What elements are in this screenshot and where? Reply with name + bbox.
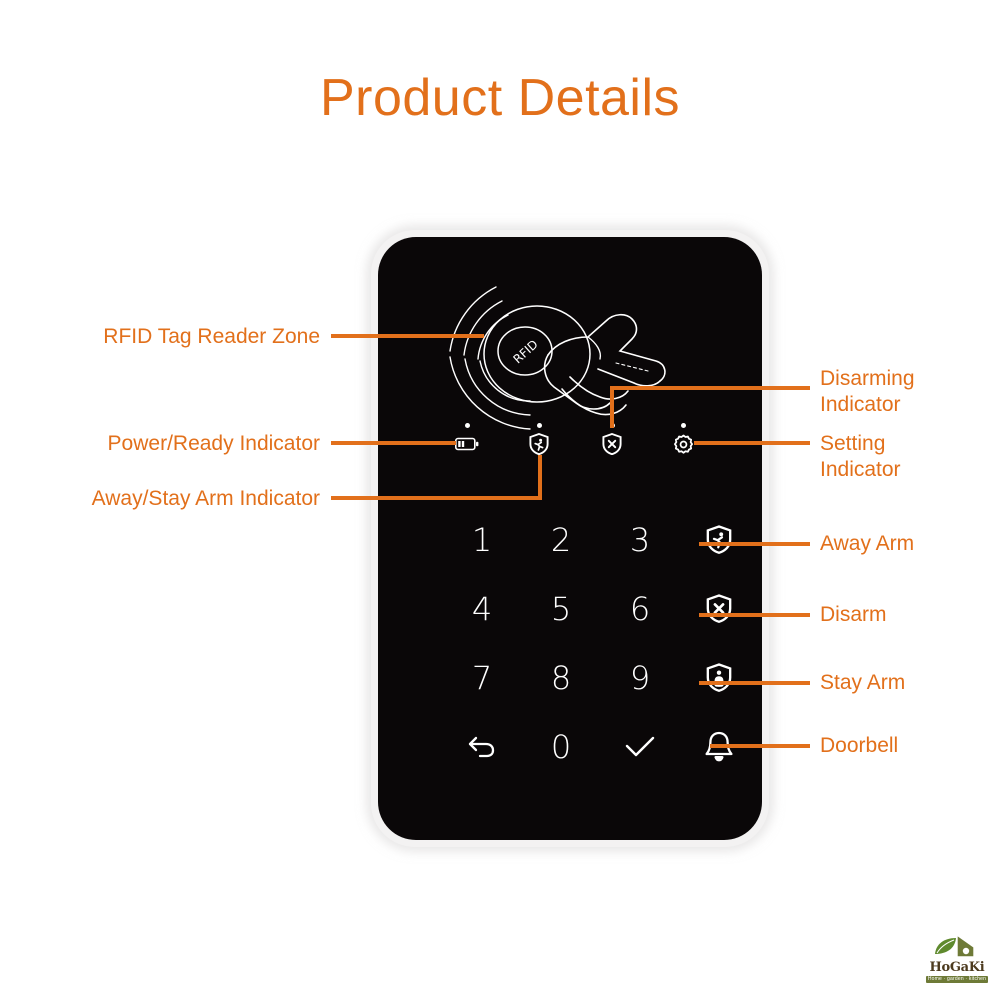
setting-indicator [660,423,706,455]
key-disarm[interactable] [683,574,755,643]
key-7[interactable]: 7 [446,643,518,712]
indicator-row [378,423,762,469]
rfid-tag-label: RFID [511,337,541,366]
key-9[interactable]: 9 [604,643,676,712]
key-9-label: 9 [630,659,650,697]
away-stay-arm-indicator [516,423,562,455]
key-back[interactable] [446,712,518,781]
shield-x-icon [706,594,732,623]
key-confirm[interactable] [604,712,676,781]
key-1-label: 1 [472,521,492,559]
callout-stay-arm: Stay Arm [820,670,995,696]
check-icon [624,734,656,760]
callout-disarm: Disarm [820,602,995,628]
callout-away-arm: Away Arm [820,531,995,557]
key-3[interactable]: 3 [604,505,676,574]
key-1[interactable]: 1 [446,505,518,574]
leader-line-away-stay-v [538,455,542,500]
key-0[interactable]: 0 [525,712,597,781]
keypad-device-panel: RFID [378,237,762,840]
power-ready-indicator [444,423,490,455]
callout-away-stay-arm-indicator: Away/Stay Arm Indicator [0,486,320,512]
key-2[interactable]: 2 [525,505,597,574]
key-5[interactable]: 5 [525,574,597,643]
shield-running-icon [516,433,562,455]
callout-rfid-tag-reader-zone: RFID Tag Reader Zone [0,324,320,350]
callout-setting-indicator: Setting Indicator [820,431,995,482]
key-8[interactable]: 8 [525,643,597,712]
shield-running-icon [706,525,732,554]
brand-logo: HoGaKi Home · garden · kitchen [922,932,992,992]
leader-line-doorbell [710,744,810,748]
power-ready-led [465,423,470,428]
back-arrow-icon [467,734,497,760]
key-4[interactable]: 4 [446,574,518,643]
key-0-label: 0 [551,728,571,766]
key-4-label: 4 [472,590,492,628]
setting-led [681,423,686,428]
key-7-label: 7 [472,659,492,697]
leader-line-stay-arm [699,681,810,685]
callout-power-ready-indicator: Power/Ready Indicator [0,431,320,457]
key-3-label: 3 [630,521,650,559]
shield-x-icon [589,433,635,455]
key-8-label: 8 [551,659,571,697]
callout-doorbell: Doorbell [820,733,995,759]
away-stay-arm-led [537,423,542,428]
key-6[interactable]: 6 [604,574,676,643]
leader-line-away-stay-h [331,496,542,500]
leaf-house-icon [930,932,984,960]
shield-person-icon [706,663,732,692]
key-6-label: 6 [630,590,650,628]
keypad-grid: 1 2 3 4 5 6 7 [378,505,762,781]
logo-wordmark: HoGaKi [922,961,992,974]
leader-line-away-arm [699,542,810,546]
page-title: Product Details [0,70,1000,127]
leader-line-disarming-v [610,386,614,428]
key-stay-arm[interactable] [683,643,755,712]
key-2-label: 2 [551,521,571,559]
leader-line-rfid [331,334,484,338]
leader-line-disarm [699,613,810,617]
key-away-arm[interactable] [683,505,755,574]
callout-disarming-indicator: Disarming Indicator [820,366,995,417]
logo-tagline: Home · garden · kitchen [926,976,988,983]
key-5-label: 5 [551,590,571,628]
rfid-tag-reader-zone[interactable]: RFID [420,259,720,434]
leader-line-setting [694,441,810,445]
leader-line-disarming-h [610,386,810,390]
leader-line-power-ready [331,441,456,445]
